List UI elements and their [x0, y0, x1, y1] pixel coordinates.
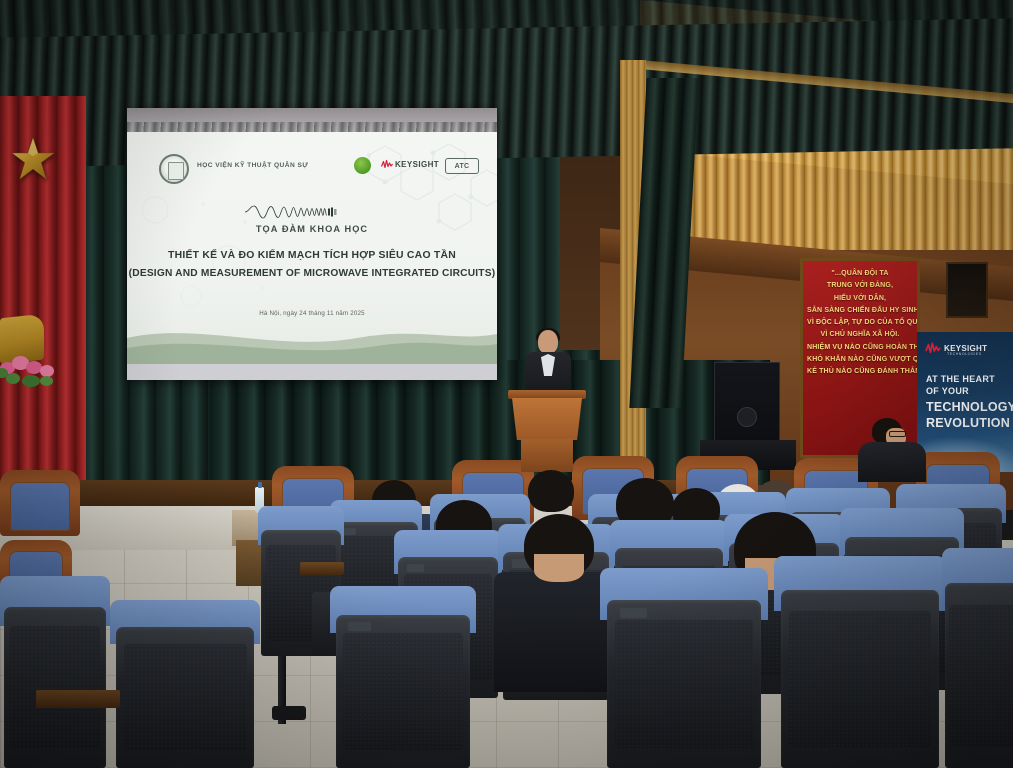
slide-wave-band: [127, 318, 497, 364]
projection-screen: HỌC VIỆN KỸ THUẬT QUÂN SỰ KEYSIGHT ATC T…: [127, 108, 497, 380]
banner-tagline-3: TECHNOLOGY: [926, 400, 1013, 414]
green-circle-icon: [354, 157, 371, 174]
seat-handle-slot: [620, 608, 647, 618]
auditorium-photo: HỌC VIỆN KỸ THUẬT QUÂN SỰ KEYSIGHT ATC T…: [0, 0, 1013, 768]
podium-body: [512, 398, 582, 440]
seat-mesh: [615, 620, 753, 748]
glasses-icon: [889, 431, 906, 437]
chirp-waveform-icon: [245, 202, 355, 222]
banner-line: KẺ THÙ NÀO CŨNG ĐÁNH THẮNG": [807, 366, 913, 378]
banner-tagline-1: AT THE HEART: [926, 374, 995, 384]
podium-base: [521, 439, 573, 472]
gold-star-icon: [10, 137, 56, 181]
slide-date-line: Hà Nội, ngày 24 tháng 11 năm 2025: [127, 310, 497, 317]
podium-top: [508, 390, 586, 399]
keysight-wave-icon: [381, 159, 393, 170]
seat-foot: [272, 706, 306, 720]
auditorium-seat: [110, 600, 260, 768]
slide-title-vietnamese: THIẾT KẾ VÀ ĐO KIỂM MẠCH TÍCH HỢP SIÊU C…: [127, 250, 497, 261]
banner-line: KHÓ KHĂN NÀO CŨNG VƯỢT QUA,: [807, 354, 913, 366]
seat-armrest: [36, 690, 120, 708]
hair: [528, 470, 574, 512]
banner-line: TRUNG VỚI ĐẢNG,: [807, 280, 913, 292]
seat-mesh: [10, 626, 100, 749]
banner-line: VÌ ĐỘC LẬP, TỰ DO CỦA TỔ QUỐC,: [807, 317, 913, 329]
seat-handle-slot: [348, 622, 371, 631]
auditorium-seat: [600, 568, 768, 768]
keysight-wordmark: KEYSIGHT: [395, 160, 439, 169]
wall-speaker-icon: [946, 262, 988, 318]
seat-armrest: [300, 562, 344, 575]
slide-event-kind: TỌA ĐÀM KHOA HỌC: [127, 224, 497, 234]
keysight-brand-sub: TECHNOLOGIES: [947, 352, 982, 356]
seat-mesh: [789, 611, 930, 747]
person-torso: [858, 442, 926, 482]
wooden-podium: [508, 390, 586, 472]
keysight-logo: KEYSIGHT: [381, 159, 439, 170]
auditorium-seat: [330, 586, 476, 768]
banner-line: "...QUÂN ĐỘI TA: [807, 268, 913, 280]
keysight-rollup-banner: KEYSIGHT TECHNOLOGIES AT THE HEART OF YO…: [917, 332, 1013, 472]
banner-tagline-2: OF YOUR: [926, 386, 969, 396]
seated-person-right: [856, 418, 930, 480]
slide-logo-row: HỌC VIỆN KỸ THUẬT QUÂN SỰ KEYSIGHT ATC: [127, 154, 497, 184]
keysight-wave-icon: [925, 342, 941, 355]
auditorium-seat: [942, 548, 1013, 768]
seat-mesh: [343, 633, 463, 749]
flower-arrangement: [0, 352, 68, 402]
neck: [534, 554, 584, 582]
presenter-at-podium: [524, 330, 572, 394]
presenter-head: [538, 330, 558, 354]
banner-line: NHIỆM VỤ NÀO CŨNG HOÀN THÀNH,: [807, 342, 913, 354]
banner-line: VÌ CHỦ NGHĨA XÃ HỘI.: [807, 329, 913, 341]
banner-line: SẴN SÀNG CHIẾN ĐẤU HY SINH: [807, 305, 913, 317]
institution-name: HỌC VIỆN KỸ THUẬT QUÂN SỰ: [197, 162, 308, 169]
seat-mesh: [949, 605, 1013, 746]
banner-tagline-4: REVOLUTION: [926, 416, 1010, 430]
seat-mesh: [124, 644, 247, 752]
auditorium-seat: [0, 576, 110, 768]
mta-seal-icon: [159, 154, 189, 184]
presentation-slide: HỌC VIỆN KỸ THUẬT QUÂN SỰ KEYSIGHT ATC T…: [127, 132, 497, 364]
banner-line: HIẾU VỚI DÂN,: [807, 293, 913, 305]
seat-handle-slot: [407, 564, 424, 572]
slide-title-english: (DESIGN AND MEASUREMENT OF MICROWAVE INT…: [127, 268, 497, 279]
audience-head: [528, 470, 574, 512]
atc-logo: ATC: [445, 158, 479, 174]
auditorium-seat: [774, 556, 946, 768]
wooden-chair: [0, 470, 80, 536]
chair-cushion: [10, 482, 71, 531]
audience-head: [524, 514, 594, 578]
